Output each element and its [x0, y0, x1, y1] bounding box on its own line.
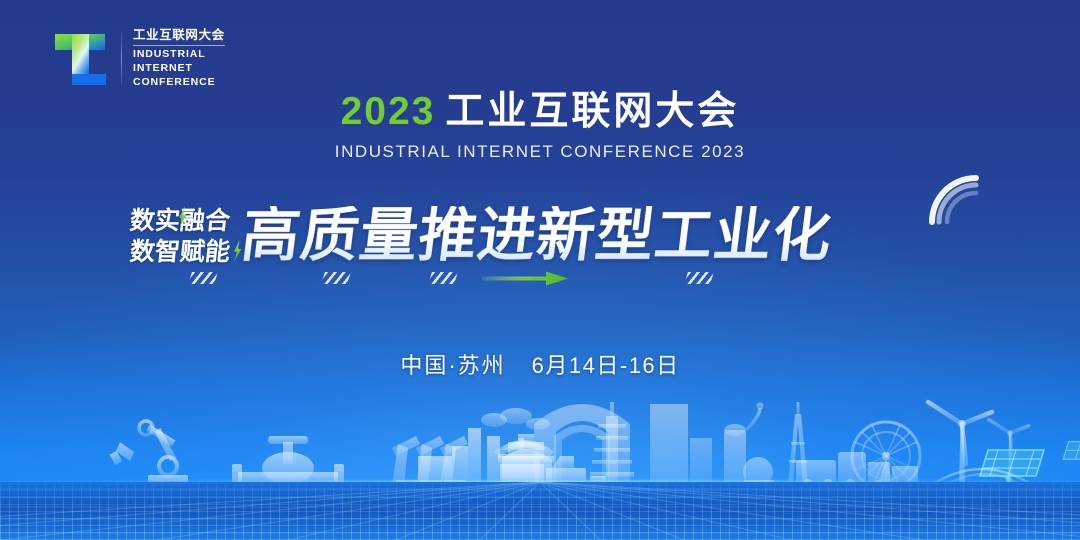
logo-english-line-1: INDUSTRIAL — [133, 48, 225, 62]
event-meta: 中国·苏州6月14日-16日 — [0, 348, 1080, 380]
event-location: 中国·苏州 — [400, 353, 505, 378]
green-progress-arrow — [482, 271, 568, 286]
stadium-icon — [414, 380, 554, 486]
slogan-secondary-text-2: 数智赋能 — [128, 237, 231, 266]
chinese-pavilion-icon — [494, 380, 554, 486]
event-date: 6月14日-16日 — [532, 353, 680, 378]
logo-english-line-2: INTERNET — [133, 62, 225, 76]
industrial-internet-conference-t-logo — [52, 28, 112, 90]
pipeline-valve-icon — [232, 436, 344, 490]
ground-mesh — [0, 482, 1080, 540]
slogan-secondary-text-1: 数实融合 — [128, 206, 231, 235]
wifi-signal-icon — [922, 168, 984, 230]
logo-chinese-name: 工业互联网大会 — [133, 28, 225, 46]
conference-logo: 工业互联网大会 INDUSTRIAL INTERNET CONFERENCE — [52, 28, 225, 90]
logo-english-line-3: CONFERENCE — [133, 76, 225, 90]
solar-panel-icon — [980, 442, 1080, 489]
perspective-ground — [0, 482, 1080, 540]
gate-of-the-orient-icon — [534, 380, 630, 486]
main-title: 2023工业互联网大会 — [0, 92, 1080, 133]
robotic-arm-icon — [110, 421, 188, 485]
logo-divider — [121, 32, 122, 86]
motion-hatch — [321, 272, 351, 284]
horizon-line — [0, 483, 1080, 485]
slogan-secondary-line-2: 数智赋能 — [129, 239, 232, 264]
title-chinese: 工业互联网大会 — [445, 90, 739, 133]
title-block: 2023工业互联网大会 INDUSTRIAL INTERNET CONFEREN… — [0, 92, 1080, 162]
industrial-city-silhouette — [0, 380, 1080, 540]
slogan-block: 数实融合 数智赋能 高质量推进新型工业化 — [0, 180, 1080, 290]
motion-hatch — [188, 272, 218, 284]
factory-smokestack-icon — [468, 408, 550, 486]
bridge-icon — [930, 469, 1034, 486]
radio-tower-icon — [788, 402, 808, 486]
train-icon — [796, 452, 918, 489]
logo-english-name: INDUSTRIAL INTERNET CONFERENCE — [133, 48, 225, 90]
title-year: 2023 — [341, 90, 436, 133]
truck-icon — [546, 456, 606, 486]
slogan-secondary-line-1: 数实融合 — [129, 208, 232, 233]
title-english-subtitle: INDUSTRIAL INTERNET CONFERENCE 2023 — [0, 142, 1080, 162]
skyline-graphics — [0, 380, 1080, 540]
oil-pumpjack-icon — [392, 436, 468, 486]
factory-building-icon — [418, 446, 544, 486]
slogan-primary: 高质量推进新型工业化 — [238, 206, 835, 264]
motion-hatch — [428, 272, 458, 284]
wind-turbine-icon — [928, 402, 1029, 486]
ground-dot-pattern — [0, 482, 1080, 540]
motion-hatch — [684, 272, 714, 284]
ferris-wheel-icon — [852, 422, 920, 490]
storage-tank-icon — [724, 403, 774, 488]
street-lights — [922, 474, 1060, 486]
horizon-glow — [0, 478, 1080, 488]
logo-text: 工业互联网大会 INDUSTRIAL INTERNET CONFERENCE — [133, 28, 225, 89]
tower-block-icon — [650, 404, 712, 486]
conference-poster: 工业互联网大会 INDUSTRIAL INTERNET CONFERENCE 2… — [0, 0, 1080, 540]
pagoda-icon — [590, 402, 634, 486]
slogan-secondary: 数实融合 数智赋能 — [130, 208, 230, 264]
